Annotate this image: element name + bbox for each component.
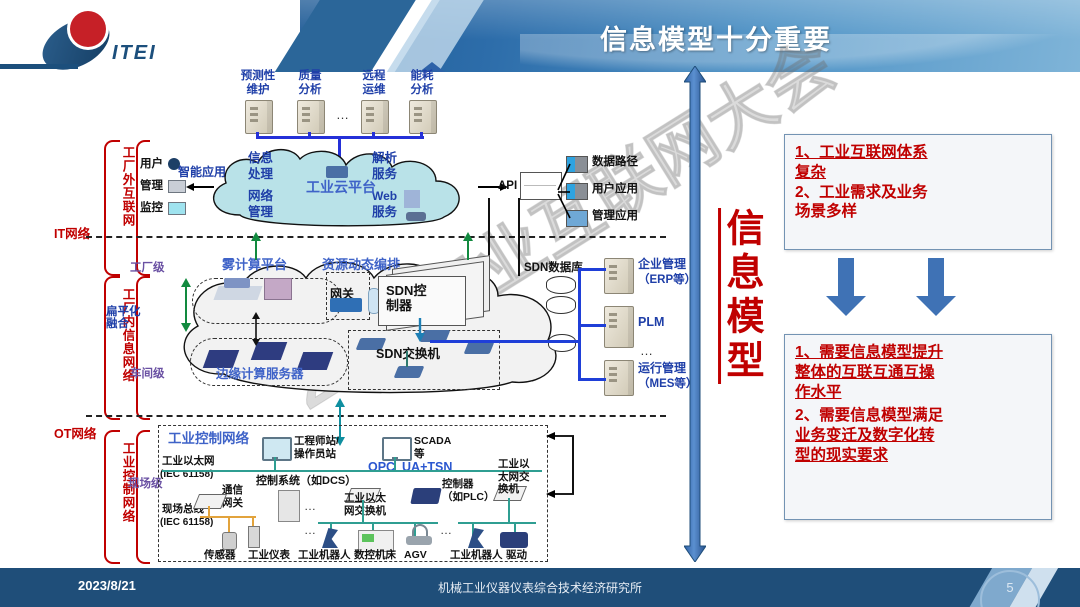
info-box-top-body: 1、工业互联网体系 复杂 2、工业需求及业务 场景多样 bbox=[785, 135, 1051, 230]
dcs-cabinet-icon bbox=[278, 490, 300, 522]
vertical-double-arrow bbox=[684, 66, 706, 562]
ethernet-bus bbox=[162, 470, 542, 472]
fog-node-icon bbox=[264, 278, 292, 300]
info-box-top-line-3: 2、工业需求及业务 bbox=[795, 184, 928, 201]
fog-platform-label: 雾计算平台 bbox=[222, 258, 287, 272]
label-it-network: IT网络 bbox=[54, 228, 90, 242]
info-box-bottom-line-6: 型的现实要求 bbox=[795, 447, 888, 464]
cloud-item-analysis-1: 解析 bbox=[372, 152, 397, 166]
slide-header: 信息模型十分重要 ITEI bbox=[0, 0, 1080, 72]
eth-switch-label: 工业以太 网交换机 bbox=[344, 492, 386, 517]
smart-app-4-line2: 分析 bbox=[400, 84, 444, 96]
enterprise-app-2-line1: PLM bbox=[638, 316, 664, 330]
enterprise-bus-link-2 bbox=[578, 324, 606, 327]
left-stack-monitor: 监控 bbox=[140, 202, 163, 214]
info-box-bottom: 1、需要信息模型提升 整体的互联互通互操 作水平 2、需要信息模型满足 业务变迁… bbox=[784, 334, 1052, 520]
itei-logo: ITEI bbox=[34, 8, 194, 66]
header-left-rule bbox=[0, 64, 78, 69]
server-icon bbox=[361, 100, 389, 134]
divider-it-ot-lower bbox=[86, 415, 666, 417]
enterprise-bus-link-1 bbox=[578, 268, 606, 271]
fieldbus-drop-1 bbox=[208, 506, 210, 518]
sdn-switch-link bbox=[406, 351, 408, 367]
cloud-item-net-mgmt-2: 管理 bbox=[248, 206, 273, 220]
orchestration-label: 资源动态编排 bbox=[322, 258, 400, 272]
enterprise-bus-horizontal bbox=[430, 340, 580, 343]
server-icon bbox=[245, 100, 273, 134]
cloud-platform-title: 工业云平台 bbox=[306, 180, 376, 195]
label-workshop-level: 车间级 bbox=[130, 368, 165, 380]
smart-app-drop-2 bbox=[308, 132, 311, 138]
ethernet-drop-1 bbox=[274, 457, 276, 471]
vertical-title: 信息模型 bbox=[720, 208, 761, 384]
arrow-double-green-left bbox=[180, 278, 192, 332]
sdn-switch-icon bbox=[464, 342, 495, 354]
brace-industrial-control bbox=[104, 430, 120, 564]
cloud-service-icon bbox=[406, 212, 426, 221]
arrow-into-control-net bbox=[546, 430, 574, 442]
label-factory-level: 工厂级 bbox=[130, 262, 165, 274]
server-icon bbox=[409, 100, 437, 134]
cnc-screen-icon bbox=[362, 534, 374, 542]
arrow-up-green-1 bbox=[250, 232, 262, 260]
info-box-bottom-body: 1、需要信息模型提升 整体的互联互通互操 作水平 2、需要信息模型满足 业务变迁… bbox=[785, 335, 1051, 474]
arrow-into-control-net-2 bbox=[546, 488, 574, 500]
left-stack-management: 管理 bbox=[140, 180, 163, 192]
enterprise-app-3-line1: 运行管理 bbox=[638, 362, 686, 375]
cloud-item-info-process-1: 信息 bbox=[248, 152, 273, 166]
fog-node-icon bbox=[213, 286, 262, 300]
sdn-switch-icon bbox=[394, 366, 425, 378]
arrow-controller-to-switch bbox=[414, 318, 426, 342]
label-factory-external: 工厂外互联网 bbox=[120, 146, 134, 227]
arrow-cloud-to-left bbox=[186, 182, 214, 192]
device-bus-right bbox=[458, 522, 536, 524]
enterprise-bus-link-3 bbox=[578, 378, 606, 381]
plm-server-icon bbox=[604, 306, 634, 348]
brace-factory-internal bbox=[104, 276, 120, 420]
api-fan-arrows bbox=[556, 152, 572, 232]
wifi-icon bbox=[412, 524, 428, 536]
arrow-up-green-2 bbox=[462, 232, 474, 260]
sdn-database-icon bbox=[548, 334, 576, 352]
agv-icon bbox=[406, 536, 432, 545]
enterprise-apps-ellipsis: … bbox=[640, 344, 655, 358]
cloud-web-icon bbox=[404, 190, 420, 208]
device-ellipsis-2: … bbox=[440, 524, 454, 537]
smart-app-1-line1: 预测性 bbox=[236, 70, 280, 82]
device-label-robot-2: 工业机器人 bbox=[450, 550, 503, 561]
page-title: 信息模型十分重要 bbox=[600, 18, 832, 57]
arrow-double-fog-inner bbox=[250, 312, 262, 346]
info-box-top-line-1: 1、工业互联网体系 bbox=[795, 144, 928, 161]
cloud-item-net-mgmt-1: 网络 bbox=[248, 190, 273, 204]
smart-app-3-line2: 运维 bbox=[352, 84, 396, 96]
smart-app-drop-3 bbox=[372, 132, 375, 138]
info-box-top-line-4: 场景多样 bbox=[795, 203, 857, 220]
info-box-bottom-line-3: 作水平 bbox=[795, 384, 842, 401]
enterprise-app-1-line1: 企业管理 bbox=[638, 258, 686, 271]
smart-app-drop-1 bbox=[256, 132, 259, 138]
control-network-title: 工业控制网络 bbox=[168, 432, 249, 447]
info-box-bottom-line-5: 业务变迁及数字化转 bbox=[795, 427, 935, 444]
engineer-station-label: 工程师站/ 操作员站 bbox=[294, 435, 339, 461]
api-label: API bbox=[498, 180, 517, 192]
sdn-database-icon bbox=[546, 276, 576, 294]
user-icon bbox=[168, 158, 180, 170]
management-icon bbox=[168, 180, 186, 193]
smart-app-drop-4 bbox=[420, 132, 423, 138]
scada-icon bbox=[382, 437, 412, 461]
instrument-icon bbox=[248, 526, 260, 548]
brace-inner-control bbox=[136, 430, 150, 564]
controller-label: 控制器 （如PLC） bbox=[442, 478, 495, 503]
switch-to-bus-link bbox=[362, 500, 364, 522]
brace-inner-internal bbox=[136, 276, 150, 420]
footer-organization: 机械工业仪器仪表综合技术经济研究所 bbox=[0, 579, 1080, 596]
info-box-bottom-line-4: 2、需要信息模型满足 bbox=[795, 407, 943, 424]
api-box-line bbox=[524, 185, 556, 186]
api-target-management-app: 管理应用 bbox=[592, 210, 638, 222]
cloud-item-info-process-2: 处理 bbox=[248, 168, 273, 182]
logo-red-ball-icon bbox=[70, 11, 106, 47]
ethernet-label: 工业以太网 bbox=[162, 456, 215, 467]
switch2-to-bus-link bbox=[508, 498, 510, 522]
api-target-user-app: 用户应用 bbox=[592, 183, 638, 195]
scada-label: SCADA 等 bbox=[414, 435, 451, 461]
left-stack-user: 用户 bbox=[140, 158, 163, 170]
smart-app-4-line1: 能耗 bbox=[400, 70, 444, 82]
sensor-icon bbox=[222, 532, 237, 550]
drive-icon bbox=[500, 532, 528, 548]
info-box-bottom-line-1: 1、需要信息模型提升 bbox=[795, 344, 943, 361]
logo-text: ITEI bbox=[112, 42, 157, 65]
device-label-cnc: 数控机床 bbox=[354, 550, 396, 561]
slide-root: 信息模型十分重要 ITEI 2023工业互联网大会 工厂外互联网 工厂内信息网络… bbox=[0, 0, 1080, 607]
mes-server-icon bbox=[604, 360, 634, 396]
control-net-right-riser bbox=[572, 436, 574, 494]
opc-label: OPC UA+TSN bbox=[368, 461, 452, 475]
eth-switch2-label: 工业以 太网交 换机 bbox=[498, 458, 530, 496]
monitor-icon bbox=[168, 202, 186, 215]
device-ellipsis-1: … bbox=[304, 524, 318, 537]
spacer bbox=[352, 348, 354, 430]
ethernet-drop-2 bbox=[394, 457, 396, 471]
engineer-station-icon bbox=[262, 437, 292, 461]
device-label-drive: 驱动 bbox=[506, 550, 527, 561]
info-box-bottom-line-2: 整体的互联互通互操 bbox=[795, 364, 935, 381]
info-box-top-line-2: 复杂 bbox=[795, 164, 826, 181]
fog-node-icon bbox=[224, 278, 250, 288]
api-target-data-path: 数据路径 bbox=[592, 156, 638, 168]
fieldbus-standard: (IEC 61158) bbox=[160, 518, 213, 529]
smart-app-1-line2: 维护 bbox=[236, 84, 280, 96]
smart-app-3-line1: 远程 bbox=[352, 70, 396, 82]
device-label-instrument: 工业仪表 bbox=[248, 550, 290, 561]
brace-factory-external bbox=[104, 140, 120, 276]
page-number: 5 bbox=[1000, 580, 1020, 595]
smart-app-2-line1: 质量 bbox=[288, 70, 332, 82]
label-ot-network: OT网络 bbox=[54, 428, 96, 442]
sdn-controller-label: SDN控 制器 bbox=[386, 284, 426, 314]
slide-footer: 2023/8/21 机械工业仪器仪表综合技术经济研究所 5 bbox=[0, 568, 1080, 607]
device-label-sensor: 传感器 bbox=[204, 550, 236, 561]
plc-icon bbox=[410, 488, 441, 504]
control-system-label: 控制系统（如DCS） bbox=[256, 476, 356, 488]
enterprise-app-server-icon bbox=[604, 258, 634, 294]
smart-app-2-line2: 分析 bbox=[288, 84, 332, 96]
info-box-top: 1、工业互联网体系 复杂 2、工业需求及业务 场景多样 bbox=[784, 134, 1052, 250]
sdn-database-label: SDN数据库 bbox=[524, 262, 583, 274]
cloud-server-icon bbox=[326, 166, 348, 178]
sdn-database-icon bbox=[546, 296, 576, 314]
device-label-agv: AGV bbox=[404, 550, 427, 561]
smart-apps-ellipsis: … bbox=[336, 108, 351, 122]
label-flat-fusion: 扁平化 融合 bbox=[106, 306, 141, 331]
control-system-ellipsis: … bbox=[304, 500, 318, 513]
edge-servers-label: 边缘计算服务器 bbox=[216, 368, 304, 382]
device-label-robot: 工业机器人 bbox=[298, 550, 351, 561]
server-icon bbox=[297, 100, 325, 134]
cloud-item-web-2: 服务 bbox=[372, 206, 397, 220]
gateway-icon bbox=[330, 298, 362, 312]
